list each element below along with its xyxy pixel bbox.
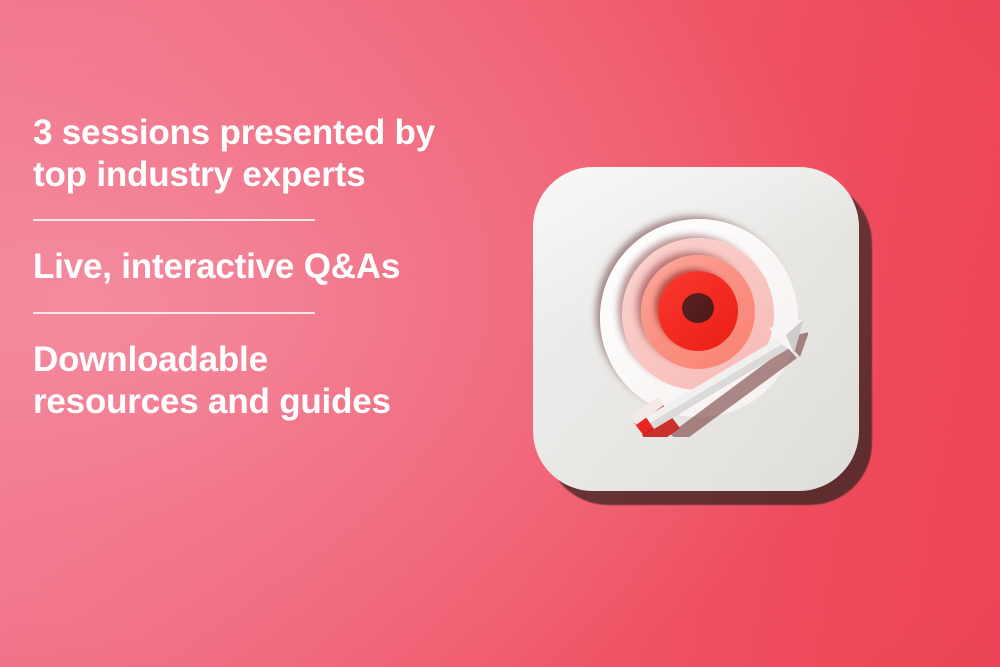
feature-text-sessions: 3 sessions presented by top industry exp… [33,112,503,195]
feature-text-qa: Live, interactive Q&As [33,246,503,288]
feature-item-qa: Live, interactive Q&As [33,246,503,288]
feature-item-sessions: 3 sessions presented by top industry exp… [33,112,503,195]
feature-item-resources: Downloadable resources and guides [33,339,503,422]
feature-text-resources: Downloadable resources and guides [33,339,503,422]
slide-canvas: 3 sessions presented by top industry exp… [0,0,1000,667]
feature-list: 3 sessions presented by top industry exp… [33,112,503,422]
divider-1 [33,219,315,221]
divider-2 [33,312,315,314]
icon-card [533,167,859,491]
bullseye-target [600,219,800,419]
target-illustration [533,167,859,491]
